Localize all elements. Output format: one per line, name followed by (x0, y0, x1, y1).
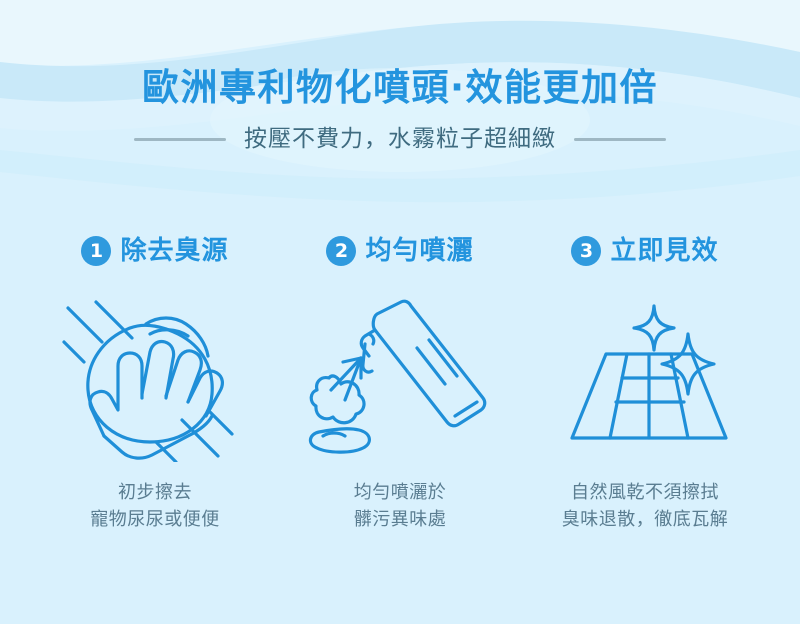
step-1-header: 1 除去臭源 (81, 228, 228, 274)
step-1-caption-line1: 初步擦去 (90, 479, 220, 506)
infographic-page: 歐洲專利物化噴頭·效能更加倍 按壓不費力，水霧粒子超細緻 1 除去臭源 (0, 0, 800, 624)
step-2-caption: 均勻噴灑於 髒污異味處 (354, 479, 447, 533)
step-3-header: 3 立即見效 (571, 228, 718, 274)
step-2-header: 2 均勻噴灑 (326, 228, 473, 274)
step-1-number-badge: 1 (81, 236, 111, 266)
step-2-icon-wrap (300, 288, 500, 463)
step-1-icon-wrap (55, 288, 255, 463)
step-2-caption-line1: 均勻噴灑於 (354, 479, 447, 506)
step-1-caption-line2: 寵物尿尿或便便 (90, 506, 220, 533)
step-3-caption-line2: 臭味退散，徹底瓦解 (562, 506, 729, 533)
spray-bottle-mist-icon (305, 290, 495, 462)
step-1-title: 除去臭源 (120, 236, 228, 266)
step-item-3: 3 立即見效 (523, 228, 768, 533)
steps-row: 1 除去臭源 (0, 228, 800, 533)
decorative-line-left (134, 138, 226, 141)
step-item-1: 1 除去臭源 (33, 228, 278, 533)
page-title: 歐洲專利物化噴頭·效能更加倍 (0, 62, 800, 114)
step-3-number-badge: 3 (571, 236, 601, 266)
step-3-caption-line1: 自然風乾不須擦拭 (562, 479, 729, 506)
header: 歐洲專利物化噴頭·效能更加倍 按壓不費力，水霧粒子超細緻 (0, 62, 800, 154)
step-2-title: 均勻噴灑 (365, 236, 473, 266)
step-item-2: 2 均勻噴灑 (278, 228, 523, 533)
subtitle-row: 按壓不費力，水霧粒子超細緻 (0, 124, 800, 154)
step-2-caption-line2: 髒污異味處 (354, 506, 447, 533)
step-3-icon-wrap (545, 288, 745, 463)
hand-wiping-cloth-icon (60, 290, 250, 462)
step-1-caption: 初步擦去 寵物尿尿或便便 (90, 479, 220, 533)
page-subtitle: 按壓不費力，水霧粒子超細緻 (244, 124, 556, 154)
decorative-line-right (574, 138, 666, 141)
step-3-title: 立即見效 (610, 236, 718, 266)
step-2-number-badge: 2 (326, 236, 356, 266)
step-3-caption: 自然風乾不須擦拭 臭味退散，徹底瓦解 (562, 479, 729, 533)
sparkling-floor-icon (550, 290, 740, 462)
